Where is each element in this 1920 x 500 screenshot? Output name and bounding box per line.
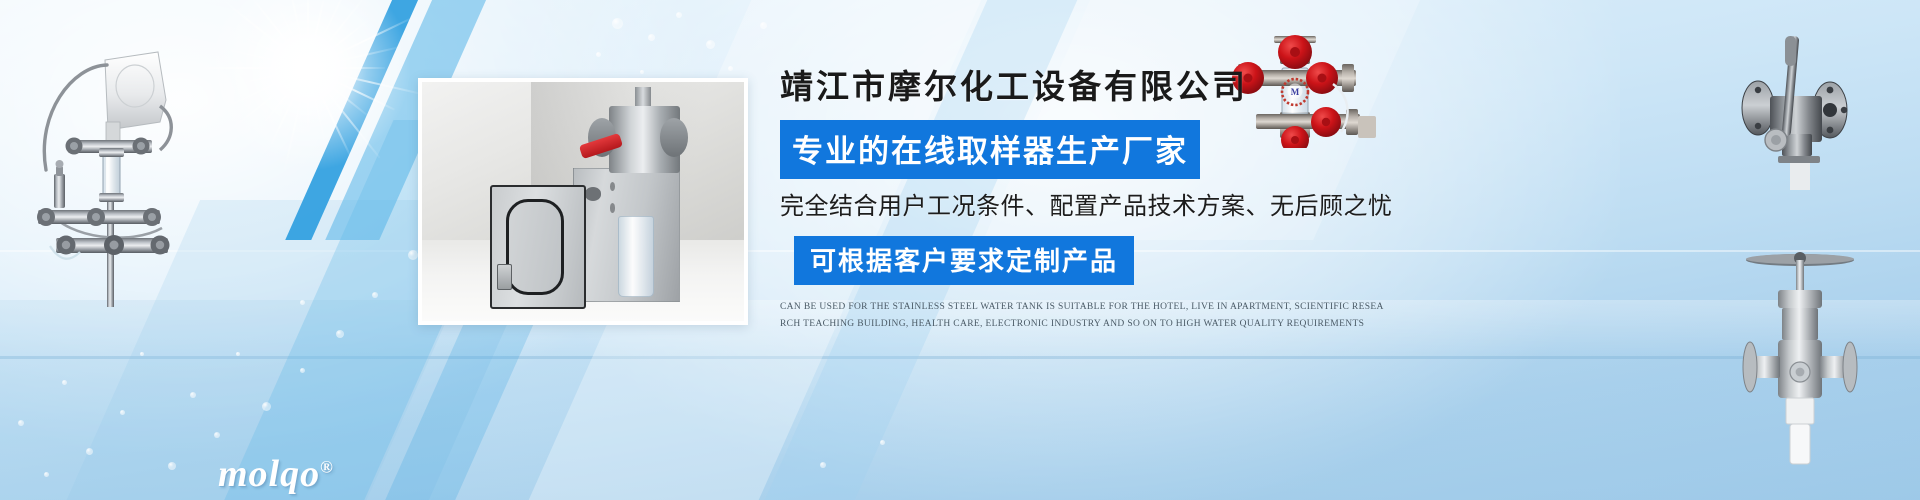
water-droplet <box>300 368 305 373</box>
water-droplet <box>408 250 418 260</box>
product-photo-scene <box>422 82 744 321</box>
water-droplet <box>120 410 125 415</box>
cabinet-door-gasket <box>506 199 563 295</box>
water-droplet <box>214 432 220 438</box>
water-droplet <box>262 402 271 411</box>
water-droplet <box>640 70 644 74</box>
water-droplet <box>300 300 305 305</box>
water-droplet <box>140 352 144 356</box>
flanged-lever-valve-icon <box>1720 30 1870 190</box>
water-droplet <box>190 392 196 398</box>
cabinet-door <box>490 185 587 309</box>
water-droplet <box>62 380 67 385</box>
water-droplet <box>760 22 767 29</box>
water-droplet <box>820 462 826 468</box>
water-droplet <box>676 12 682 18</box>
water-droplet <box>706 40 715 49</box>
sunburst-icon <box>198 0 418 178</box>
water-droplet <box>168 462 176 470</box>
water-droplet <box>236 352 240 356</box>
promo-banner: M <box>0 0 1920 500</box>
sampler-assembly-icon <box>10 22 180 307</box>
registered-mark-icon: ® <box>320 457 334 476</box>
watermark-text: molqo <box>218 453 320 495</box>
company-title: 靖江市摩尔化工设备有限公司 <box>780 70 1420 106</box>
water-droplet <box>596 52 601 57</box>
water-droplet <box>372 292 378 298</box>
sunburst-rays <box>198 0 418 178</box>
water-droplet <box>86 448 93 455</box>
tagline-badge: 专业的在线取样器生产厂家 <box>780 120 1200 179</box>
water-droplet <box>336 330 344 338</box>
cabinet-door-latch <box>497 264 512 290</box>
custom-product-badge: 可根据客户要求定制产品 <box>794 236 1134 285</box>
left-equipment-image <box>10 22 180 307</box>
lever-valve-image <box>1720 30 1870 190</box>
description-text: 完全结合用户工况条件、配置产品技术方案、无后顾之忧 <box>780 193 1420 222</box>
handwheel-valve-image <box>1730 248 1870 478</box>
fineprint-text: CAN BE USED FOR THE STAINLESS STEEL WATE… <box>780 299 1390 332</box>
watermark-logo: molqo® <box>218 452 334 496</box>
sample-bottle <box>618 216 653 297</box>
water-droplet <box>648 34 655 41</box>
handwheel-sampling-valve-icon <box>1730 248 1870 478</box>
water-droplet <box>44 472 49 477</box>
water-droplet <box>18 420 24 426</box>
center-product-photo <box>418 78 748 325</box>
water-droplet <box>880 440 885 445</box>
water-droplet <box>612 18 623 29</box>
horizon-band-3 <box>0 356 1920 359</box>
water-droplet <box>728 66 733 71</box>
banner-text-block: 靖江市摩尔化工设备有限公司 专业的在线取样器生产厂家 完全结合用户工况条件、配置… <box>780 70 1420 332</box>
